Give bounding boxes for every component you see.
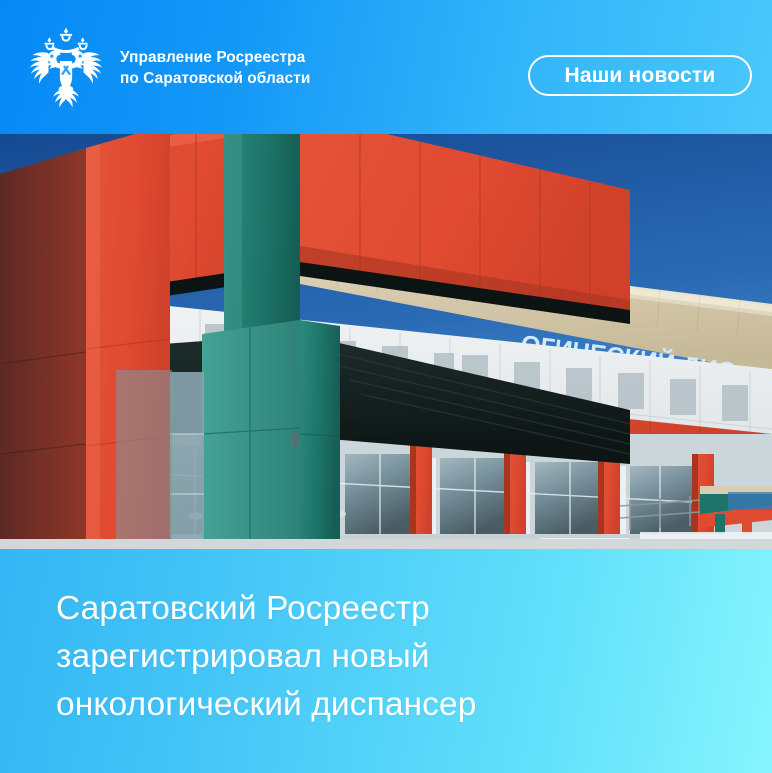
article-headline: Саратовский Росреестр зарегистрировал но… [56,585,746,729]
rosreestr-eagle-icon [22,26,110,110]
card-header: Управление Росреестра по Саратовской обл… [0,0,772,134]
caption-bar: Саратовский Росреестр зарегистрировал но… [0,549,772,773]
news-card: Управление Росреестра по Саратовской обл… [0,0,772,773]
brand: Управление Росреестра по Саратовской обл… [22,26,310,110]
our-news-button[interactable]: Наши новости [528,55,752,96]
organization-name: Управление Росреестра по Саратовской обл… [120,48,310,89]
article-photo: ОГИЧЕСКИЙ ДИС [0,134,772,549]
